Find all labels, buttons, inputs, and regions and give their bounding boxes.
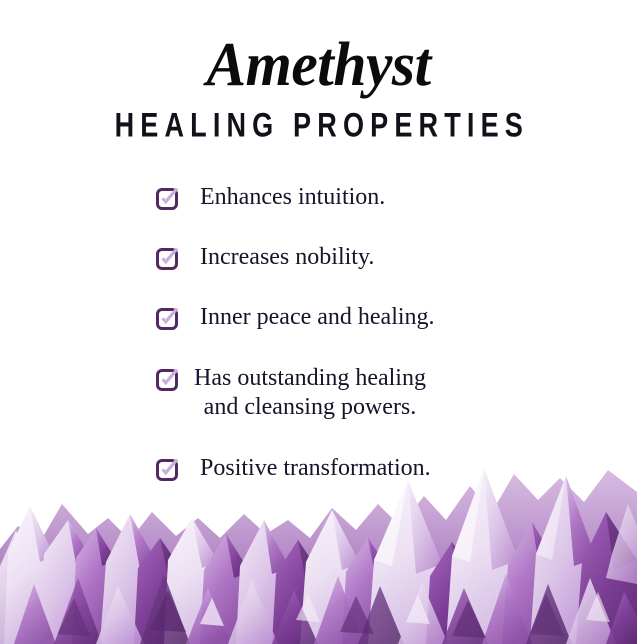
list-item: Inner peace and healing.: [0, 304, 637, 331]
list-item-label: Increases nobility.: [180, 243, 374, 271]
list-item-label: Inner peace and healing.: [180, 303, 435, 331]
list-item: Has outstanding healing and cleansing po…: [0, 365, 637, 422]
list-item: Increases nobility.: [0, 244, 637, 271]
amethyst-crystal-cluster-image: [0, 434, 637, 644]
checkbox-checked-icon: [156, 307, 180, 331]
amethyst-healing-properties-poster: Amethyst HEALING PROPERTIES Enhances int…: [0, 0, 637, 644]
page-title: Amethyst: [13, 34, 625, 96]
checkbox-checked-icon: [156, 368, 180, 392]
page-subtitle: HEALING PROPERTIES: [57, 107, 579, 142]
poster-header: Amethyst HEALING PROPERTIES: [0, 0, 637, 141]
checkbox-checked-icon: [156, 247, 180, 271]
checkbox-checked-icon: [156, 187, 180, 211]
list-item-label: Enhances intuition.: [180, 183, 385, 211]
list-item-label: Has outstanding healing and cleansing po…: [180, 364, 426, 422]
crystal-cluster-svg: [0, 434, 637, 644]
list-item: Enhances intuition.: [0, 184, 637, 211]
